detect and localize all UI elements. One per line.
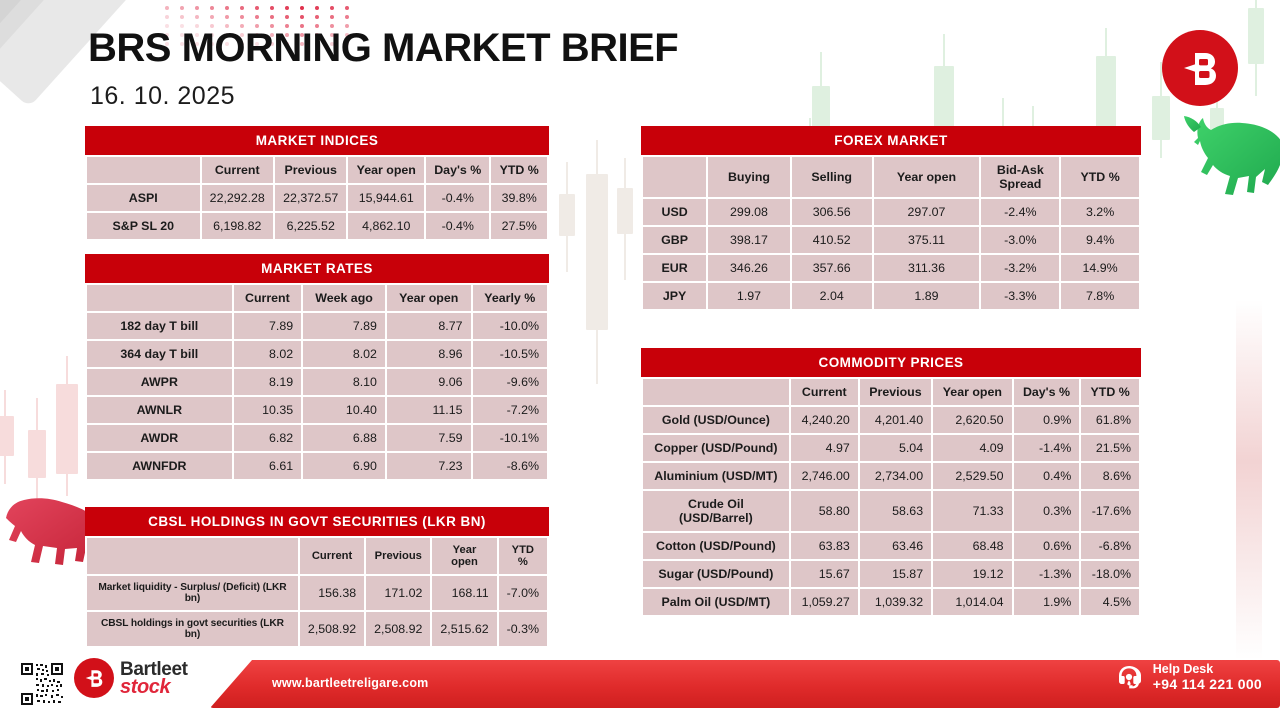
cell-ytd-pct: -6.8% [1081, 533, 1139, 559]
row-label: CBSL holdings in govt securities (LKR bn… [87, 612, 298, 646]
cell-buying: 346.26 [708, 255, 790, 281]
cell-selling: 306.56 [792, 199, 872, 225]
cell-year-open: 68.48 [933, 533, 1011, 559]
cell-ytd-pct: -0.3% [499, 612, 547, 646]
table-row: GBP398.17410.52375.11-3.0%9.4% [643, 227, 1139, 253]
cell-ytd-pct: 9.4% [1061, 227, 1139, 253]
cell-ytd-pct: 61.8% [1081, 407, 1139, 433]
cell-current: 6.61 [234, 453, 302, 479]
cell-current: 10.35 [234, 397, 302, 423]
cell-day-pct: 0.9% [1014, 407, 1080, 433]
cell-ytd-pct: -18.0% [1081, 561, 1139, 587]
col-header: YTD % [1081, 379, 1139, 405]
row-label: EUR [643, 255, 706, 281]
cell-ytd-pct: 21.5% [1081, 435, 1139, 461]
table-header-row: Buying Selling Year open Bid-Ask Spread … [643, 157, 1139, 197]
col-header: YTD % [1061, 157, 1139, 197]
cell-yearly-pct: -10.1% [473, 425, 547, 451]
brs-logo [1162, 30, 1238, 106]
background-candlestick [0, 390, 14, 484]
table-row: S&P SL 20 6,198.82 6,225.52 4,862.10 -0.… [87, 213, 547, 239]
table-header-row: Current Week ago Year open Yearly % [87, 285, 547, 311]
cbsl-holdings-panel: CBSL HOLDINGS IN GOVT SECURITIES (LKR BN… [85, 507, 549, 648]
cell-spread: -3.0% [981, 227, 1059, 253]
table-header-row: Current Previous Year open YTD % [87, 538, 547, 574]
cell-current: 8.02 [234, 341, 302, 367]
cell-year-open: 168.11 [432, 576, 496, 610]
col-header: Previous [275, 157, 346, 183]
cell-year-open: 4.09 [933, 435, 1011, 461]
col-header: YTD % [491, 157, 547, 183]
cell-selling: 357.66 [792, 255, 872, 281]
cell-yearly-pct: -9.6% [473, 369, 547, 395]
help-desk-label: Help Desk [1153, 662, 1262, 676]
commodity-prices-panel: COMMODITY PRICES Current Previous Year o… [641, 348, 1141, 617]
col-header: YTD % [499, 538, 547, 574]
cell-previous: 1,039.32 [860, 589, 931, 615]
col-header: Previous [366, 538, 430, 574]
market-indices-panel: MARKET INDICES Current Previous Year ope… [85, 126, 549, 241]
cell-year-open: 7.59 [387, 425, 471, 451]
table-row: Market liquidity - Surplus/ (Deficit) (L… [87, 576, 547, 610]
cell-yearly-pct: -10.0% [473, 313, 547, 339]
cell-current: 1,059.27 [791, 589, 858, 615]
row-label: Aluminium (USD/MT) [643, 463, 789, 489]
cell-day-pct: 0.6% [1014, 533, 1080, 559]
cell-yearly-pct: -7.2% [473, 397, 547, 423]
table-row: Gold (USD/Ounce)4,240.204,201.402,620.50… [643, 407, 1139, 433]
col-header [87, 157, 200, 183]
cell-ytd-pct: -17.6% [1081, 491, 1139, 531]
cell-year-open: 9.06 [387, 369, 471, 395]
col-header: Year open [432, 538, 496, 574]
page-date: 16. 10. 2025 [90, 82, 235, 111]
headset-icon [1114, 662, 1144, 692]
cell-previous: 22,372.57 [275, 185, 346, 211]
cell-ytd-pct: 7.8% [1061, 283, 1139, 309]
row-label: Market liquidity - Surplus/ (Deficit) (L… [87, 576, 298, 610]
col-header: Year open [348, 157, 424, 183]
table-row: USD299.08306.56297.07-2.4%3.2% [643, 199, 1139, 225]
cell-ytd-pct: 4.5% [1081, 589, 1139, 615]
bartleet-stock-logo[interactable]: Bartleet stock [74, 658, 188, 698]
cell-spread: -3.2% [981, 255, 1059, 281]
cell-current: 6,198.82 [202, 213, 273, 239]
cell-selling: 2.04 [792, 283, 872, 309]
market-indices-title: MARKET INDICES [85, 126, 549, 155]
table-row: 182 day T bill7.897.898.77-10.0% [87, 313, 547, 339]
cell-week-ago: 7.89 [303, 313, 385, 339]
col-header [87, 285, 232, 311]
cell-yearly-pct: -8.6% [473, 453, 547, 479]
cell-day-pct: -0.4% [426, 185, 489, 211]
table-row: JPY1.972.041.89-3.3%7.8% [643, 283, 1139, 309]
cell-spread: -2.4% [981, 199, 1059, 225]
cell-ytd-pct: 27.5% [491, 213, 547, 239]
cell-current: 2,508.92 [300, 612, 364, 646]
col-header: Year open [933, 379, 1011, 405]
cell-previous: 2,508.92 [366, 612, 430, 646]
forex-market-panel: FOREX MARKET Buying Selling Year open Bi… [641, 126, 1141, 311]
cell-day-pct: -1.3% [1014, 561, 1080, 587]
row-label: S&P SL 20 [87, 213, 200, 239]
cell-previous: 63.46 [860, 533, 931, 559]
cell-day-pct: 1.9% [1014, 589, 1080, 615]
cell-spread: -3.3% [981, 283, 1059, 309]
logo-b-icon [81, 665, 107, 691]
cell-current: 4,240.20 [791, 407, 858, 433]
cell-year-open: 1.89 [874, 283, 980, 309]
cell-year-open: 8.77 [387, 313, 471, 339]
table-row: Palm Oil (USD/MT)1,059.271,039.321,014.0… [643, 589, 1139, 615]
cell-year-open: 19.12 [933, 561, 1011, 587]
market-rates-table: Current Week ago Year open Yearly % 182 … [85, 283, 549, 481]
brand-line-2: stock [120, 677, 188, 697]
commodity-table: Current Previous Year open Day's % YTD %… [641, 377, 1141, 617]
row-label: 182 day T bill [87, 313, 232, 339]
cell-current: 15.67 [791, 561, 858, 587]
row-label: USD [643, 199, 706, 225]
col-header: Week ago [303, 285, 385, 311]
cell-ytd-pct: 14.9% [1061, 255, 1139, 281]
row-label: Gold (USD/Ounce) [643, 407, 789, 433]
cell-year-open: 71.33 [933, 491, 1011, 531]
logo-b-icon [1175, 43, 1225, 93]
cell-previous: 4,201.40 [860, 407, 931, 433]
cell-previous: 5.04 [860, 435, 931, 461]
cell-ytd-pct: 3.2% [1061, 199, 1139, 225]
cell-year-open: 11.15 [387, 397, 471, 423]
col-header [643, 379, 789, 405]
background-fade-bar [1236, 300, 1262, 660]
cell-day-pct: -1.4% [1014, 435, 1080, 461]
row-label: ASPI [87, 185, 200, 211]
cell-week-ago: 8.02 [303, 341, 385, 367]
bull-graphic [1180, 110, 1280, 206]
col-header: Yearly % [473, 285, 547, 311]
table-row: AWNLR10.3510.4011.15-7.2% [87, 397, 547, 423]
cell-current: 58.80 [791, 491, 858, 531]
cell-previous: 58.63 [860, 491, 931, 531]
table-row: Sugar (USD/Pound)15.6715.8719.12-1.3%-18… [643, 561, 1139, 587]
cell-year-open: 15,944.61 [348, 185, 424, 211]
cell-ytd-pct: 8.6% [1081, 463, 1139, 489]
col-header: Buying [708, 157, 790, 197]
cell-previous: 171.02 [366, 576, 430, 610]
footer-website-url[interactable]: www.bartleetreligare.com [272, 676, 428, 690]
col-header: Year open [387, 285, 471, 311]
cell-buying: 299.08 [708, 199, 790, 225]
cell-year-open: 2,515.62 [432, 612, 496, 646]
market-rates-panel: MARKET RATES Current Week ago Year open … [85, 254, 549, 481]
col-header [643, 157, 706, 197]
cell-year-open: 2,620.50 [933, 407, 1011, 433]
help-desk-block[interactable]: Help Desk +94 114 221 000 [1114, 662, 1262, 692]
background-candlestick [1248, 0, 1264, 96]
table-row: Crude Oil (USD/Barrel)58.8058.6371.330.3… [643, 491, 1139, 531]
cell-year-open: 2,529.50 [933, 463, 1011, 489]
logo-b-mark [74, 658, 114, 698]
col-header [87, 538, 298, 574]
table-row: ASPI 22,292.28 22,372.57 15,944.61 -0.4%… [87, 185, 547, 211]
cell-year-open: 8.96 [387, 341, 471, 367]
cell-previous: 6,225.52 [275, 213, 346, 239]
col-header: Year open [874, 157, 980, 197]
background-candlestick [28, 398, 46, 506]
cell-yearly-pct: -10.5% [473, 341, 547, 367]
cell-week-ago: 6.88 [303, 425, 385, 451]
col-header: Day's % [426, 157, 489, 183]
cell-current: 6.82 [234, 425, 302, 451]
cell-ytd-pct: -7.0% [499, 576, 547, 610]
cbsl-table: Current Previous Year open YTD % Market … [85, 536, 549, 648]
cell-ytd-pct: 39.8% [491, 185, 547, 211]
table-row: Copper (USD/Pound)4.975.044.09-1.4%21.5% [643, 435, 1139, 461]
row-label: AWPR [87, 369, 232, 395]
row-label: AWDR [87, 425, 232, 451]
table-header-row: Current Previous Year open Day's % YTD % [643, 379, 1139, 405]
forex-table: Buying Selling Year open Bid-Ask Spread … [641, 155, 1141, 311]
cell-previous: 2,734.00 [860, 463, 931, 489]
col-header: Day's % [1014, 379, 1080, 405]
table-row: 364 day T bill8.028.028.96-10.5% [87, 341, 547, 367]
cell-year-open: 297.07 [874, 199, 980, 225]
row-label: Palm Oil (USD/MT) [643, 589, 789, 615]
cell-buying: 1.97 [708, 283, 790, 309]
cell-day-pct: 0.3% [1014, 491, 1080, 531]
cell-year-open: 375.11 [874, 227, 980, 253]
market-brief-page: BRS MORNING MARKET BRIEF 16. 10. 2025 MA… [0, 0, 1280, 720]
cell-current: 4.97 [791, 435, 858, 461]
table-row: AWDR6.826.887.59-10.1% [87, 425, 547, 451]
cell-selling: 410.52 [792, 227, 872, 253]
page-title: BRS MORNING MARKET BRIEF [88, 26, 678, 71]
forex-title: FOREX MARKET [641, 126, 1141, 155]
row-label: Sugar (USD/Pound) [643, 561, 789, 587]
table-row: Cotton (USD/Pound)63.8363.4668.480.6%-6.… [643, 533, 1139, 559]
table-row: AWNFDR6.616.907.23-8.6% [87, 453, 547, 479]
cell-current: 22,292.28 [202, 185, 273, 211]
qr-code-icon[interactable] [20, 662, 64, 706]
col-header: Current [234, 285, 302, 311]
col-header: Current [202, 157, 273, 183]
cell-year-open: 4,862.10 [348, 213, 424, 239]
table-row: CBSL holdings in govt securities (LKR bn… [87, 612, 547, 646]
col-header: Bid-Ask Spread [981, 157, 1059, 197]
table-row: Aluminium (USD/MT)2,746.002,734.002,529.… [643, 463, 1139, 489]
col-header: Previous [860, 379, 931, 405]
cell-buying: 398.17 [708, 227, 790, 253]
cell-current: 63.83 [791, 533, 858, 559]
row-label: AWNLR [87, 397, 232, 423]
table-row: AWPR8.198.109.06-9.6% [87, 369, 547, 395]
cell-day-pct: 0.4% [1014, 463, 1080, 489]
cell-current: 156.38 [300, 576, 364, 610]
commodity-title: COMMODITY PRICES [641, 348, 1141, 377]
cell-current: 2,746.00 [791, 463, 858, 489]
cell-day-pct: -0.4% [426, 213, 489, 239]
cell-week-ago: 8.10 [303, 369, 385, 395]
cell-year-open: 7.23 [387, 453, 471, 479]
col-header: Current [791, 379, 858, 405]
col-header: Selling [792, 157, 872, 197]
row-label: GBP [643, 227, 706, 253]
cell-current: 7.89 [234, 313, 302, 339]
background-candlestick [617, 158, 633, 280]
row-label: AWNFDR [87, 453, 232, 479]
row-label: 364 day T bill [87, 341, 232, 367]
col-header: Current [300, 538, 364, 574]
row-label: JPY [643, 283, 706, 309]
background-candlestick [56, 356, 78, 496]
cell-previous: 15.87 [860, 561, 931, 587]
table-header-row: Current Previous Year open Day's % YTD % [87, 157, 547, 183]
cbsl-title: CBSL HOLDINGS IN GOVT SECURITIES (LKR BN… [85, 507, 549, 536]
background-candlestick [586, 140, 608, 384]
cell-week-ago: 10.40 [303, 397, 385, 423]
market-rates-title: MARKET RATES [85, 254, 549, 283]
row-label: Copper (USD/Pound) [643, 435, 789, 461]
cell-year-open: 311.36 [874, 255, 980, 281]
help-desk-phone: +94 114 221 000 [1153, 676, 1262, 692]
table-row: EUR346.26357.66311.36-3.2%14.9% [643, 255, 1139, 281]
background-candlestick [559, 162, 575, 272]
footer [0, 654, 1280, 720]
cell-year-open: 1,014.04 [933, 589, 1011, 615]
cell-current: 8.19 [234, 369, 302, 395]
market-indices-table: Current Previous Year open Day's % YTD %… [85, 155, 549, 241]
cell-week-ago: 6.90 [303, 453, 385, 479]
row-label: Cotton (USD/Pound) [643, 533, 789, 559]
row-label: Crude Oil (USD/Barrel) [643, 491, 789, 531]
